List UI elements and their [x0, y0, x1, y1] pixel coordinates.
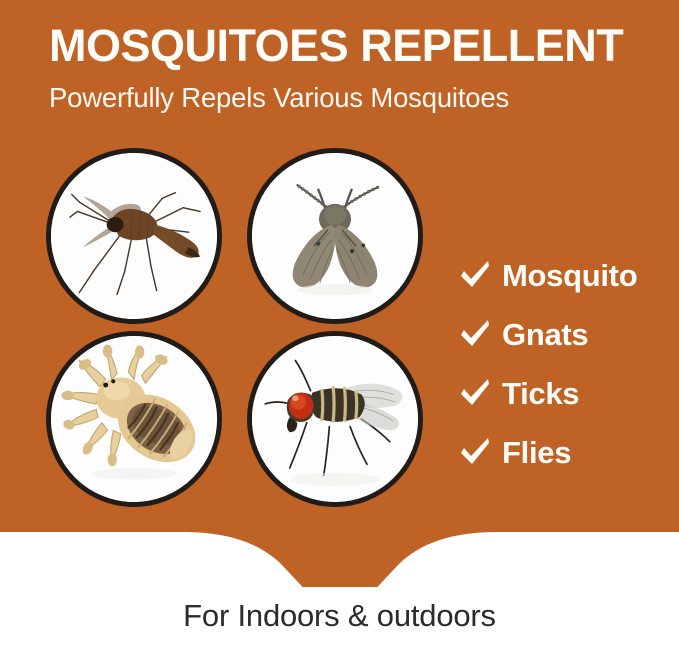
- gnat-photo: [247, 148, 423, 324]
- checklist-item-ticks: Ticks: [458, 364, 673, 423]
- benefits-checklist: Mosquito Gnats Ticks Flies: [458, 246, 673, 482]
- tick-photo: [46, 331, 222, 507]
- checklist-item-label: Flies: [502, 435, 571, 471]
- mosquito-illustration: [51, 153, 217, 319]
- banner-tail-shape: [0, 527, 679, 587]
- tick-illustration: [51, 336, 217, 502]
- drain-fly-illustration: [252, 153, 418, 319]
- page-subtitle: Powerfully Repels Various Mosquitoes: [49, 82, 649, 114]
- check-icon: [458, 318, 502, 352]
- check-icon: [458, 436, 502, 470]
- checklist-item-gnats: Gnats: [458, 305, 673, 364]
- check-icon: [458, 259, 502, 293]
- checklist-item-flies: Flies: [458, 423, 673, 482]
- check-icon: [458, 377, 502, 411]
- fly-photo: [247, 331, 423, 507]
- mosquito-photo: [46, 148, 222, 324]
- checklist-item-label: Mosquito: [502, 258, 637, 294]
- page-title: MOSQUITOES REPELLENT: [49, 22, 649, 70]
- house-fly-illustration: [252, 336, 418, 502]
- checklist-item-label: Gnats: [502, 317, 588, 353]
- footer-text: For Indoors & outdoors: [0, 598, 679, 634]
- checklist-item-label: Ticks: [502, 376, 579, 412]
- checklist-item-mosquito: Mosquito: [458, 246, 673, 305]
